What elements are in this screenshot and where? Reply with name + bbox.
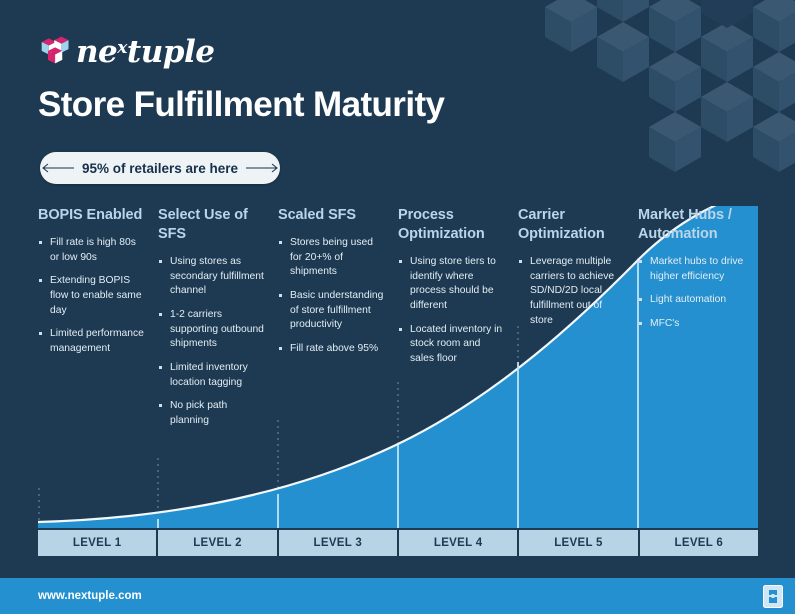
column-level-1: BOPIS Enabled Fill rate is high 80s or l… (38, 206, 158, 437)
column-title: Market Hubs / Automation (638, 206, 744, 244)
column-level-5: Carrier Optimization Leverage multiple c… (518, 206, 638, 437)
bullet-item: No pick path planning (158, 399, 264, 428)
bullet-item: Limited inventory location tagging (158, 361, 264, 390)
bullet-item: Leverage multiple carriers to achieve SD… (518, 255, 624, 328)
page-title: Store Fulfillment Maturity (38, 86, 444, 125)
level-box: LEVEL 1 (38, 530, 156, 556)
column-level-3: Scaled SFS Stores being used for 20+% of… (278, 206, 398, 437)
bullet-item: Basic understanding of store fulfillment… (278, 289, 384, 333)
column-bullets: Stores being used for 20+% of shipments … (278, 236, 384, 356)
column-level-6: Market Hubs / Automation Market hubs to … (638, 206, 758, 437)
bullet-item: Fill rate is high 80s or low 90s (38, 236, 144, 265)
isometric-cube-logo-icon (38, 33, 74, 67)
level-box: LEVEL 2 (158, 530, 276, 556)
footer-bar: www.nextuple.com (0, 578, 795, 614)
level-row: LEVEL 1 LEVEL 2 LEVEL 3 LEVEL 4 LEVEL 5 … (38, 530, 758, 556)
column-level-2: Select Use of SFS Using stores as second… (158, 206, 278, 437)
bullet-item: MFC's (638, 317, 744, 332)
bullet-item: Limited performance management (38, 327, 144, 356)
brand-wordmark: nextuple (76, 37, 214, 68)
arrow-right-icon (245, 163, 279, 173)
badge-label: 95% of retailers are here (82, 161, 238, 176)
column-bullets: Leverage multiple carriers to achieve SD… (518, 255, 624, 328)
nextuple-badge-icon[interactable] (763, 585, 783, 608)
bullet-item: Extending BOPIS flow to enable same day (38, 274, 144, 318)
bullet-item: 1-2 carriers supporting outbound shipmen… (158, 308, 264, 352)
column-bullets: Using store tiers to identify where proc… (398, 255, 504, 366)
slide-root: nextuple Store Fulfillment Maturity 95% … (0, 0, 795, 614)
column-bullets: Fill rate is high 80s or low 90s Extendi… (38, 236, 144, 356)
level-box: LEVEL 3 (279, 530, 397, 556)
bullet-item: Market hubs to drive higher efficiency (638, 255, 744, 284)
isometric-cube-pattern (505, 0, 795, 210)
maturity-columns: BOPIS Enabled Fill rate is high 80s or l… (38, 206, 758, 437)
level-box: LEVEL 6 (640, 530, 758, 556)
column-level-4: Process Optimization Using store tiers t… (398, 206, 518, 437)
column-bullets: Using stores as secondary fulfillment ch… (158, 255, 264, 428)
column-title: Select Use of SFS (158, 206, 264, 244)
retailers-badge: 95% of retailers are here (40, 152, 280, 184)
arrow-left-icon (41, 163, 75, 173)
bullet-item: Fill rate above 95% (278, 342, 384, 357)
bullet-item: Located inventory in stock room and sale… (398, 323, 504, 367)
brand-logo[interactable]: nextuple (38, 30, 214, 70)
column-bullets: Market hubs to drive higher efficiency L… (638, 255, 744, 331)
bullet-item: Using store tiers to identify where proc… (398, 255, 504, 313)
column-title: BOPIS Enabled (38, 206, 144, 225)
bullet-item: Using stores as secondary fulfillment ch… (158, 255, 264, 299)
column-title: Scaled SFS (278, 206, 384, 225)
column-title: Carrier Optimization (518, 206, 624, 244)
column-title: Process Optimization (398, 206, 504, 244)
bullet-item: Light automation (638, 293, 744, 308)
level-box: LEVEL 4 (399, 530, 517, 556)
bullet-item: Stores being used for 20+% of shipments (278, 236, 384, 280)
level-box: LEVEL 5 (519, 530, 637, 556)
footer-url-link[interactable]: www.nextuple.com (38, 590, 142, 602)
